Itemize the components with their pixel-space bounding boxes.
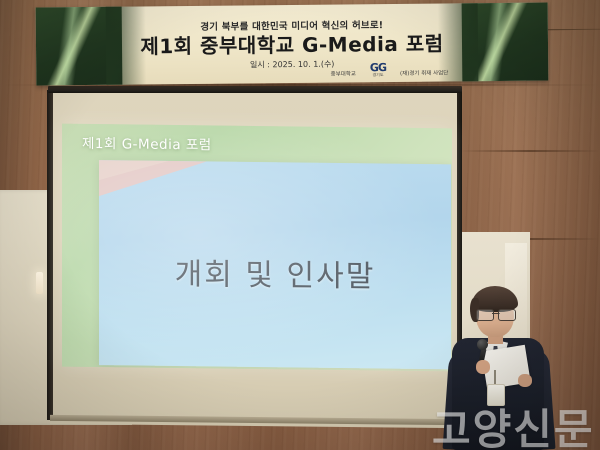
banner-title: 제1회 중부대학교 G-Media 포럼 (140, 32, 443, 57)
glasses-lens-left (476, 309, 494, 321)
screen-edge-left (47, 90, 53, 420)
event-banner: 경기 북부를 대한민국 미디어 혁신의 허브로! 제1회 중부대학교 G-Med… (36, 3, 549, 86)
slide-content-panel: 개회 및 인사말 (99, 160, 451, 369)
slide-corner-accent-2 (99, 160, 169, 181)
wall-light-sconce (36, 272, 43, 294)
photo-scene: 제1회 G-Media 포럼 개회 및 인사말 경기 북부를 대한민국 미디어 … (0, 0, 600, 450)
slide-header-text: 제1회 G-Media 포럼 (82, 132, 212, 154)
newspaper-watermark: 고양신문 (432, 396, 595, 450)
slide-headline-text: 개회 및 인사말 (99, 248, 451, 296)
banner-subtitle: 경기 북부를 대한민국 미디어 혁신의 허브로! (200, 17, 383, 33)
projected-slide: 제1회 G-Media 포럼 개회 및 인사말 (62, 124, 452, 372)
microphone-head (477, 339, 488, 350)
banner-date: 일시 : 2025. 10. 1.(수) (250, 59, 335, 71)
banner-logo-row: 중부대학교 GG 경기도 (재)경기 취재 사업단 (331, 63, 449, 79)
logo-project-group: (재)경기 취재 사업단 (400, 71, 448, 78)
speaker-right-hand (518, 374, 532, 387)
screen-mount-rail (48, 86, 462, 93)
logo-gyeonggi-province: GG 경기도 (370, 63, 386, 78)
logo-joongbu-university: 중부대학교 (331, 72, 356, 79)
glasses-lens-right (498, 309, 516, 321)
wood-panel-seam (460, 150, 600, 152)
speaker-glasses (476, 309, 516, 319)
speaker-left-hand (476, 360, 490, 374)
